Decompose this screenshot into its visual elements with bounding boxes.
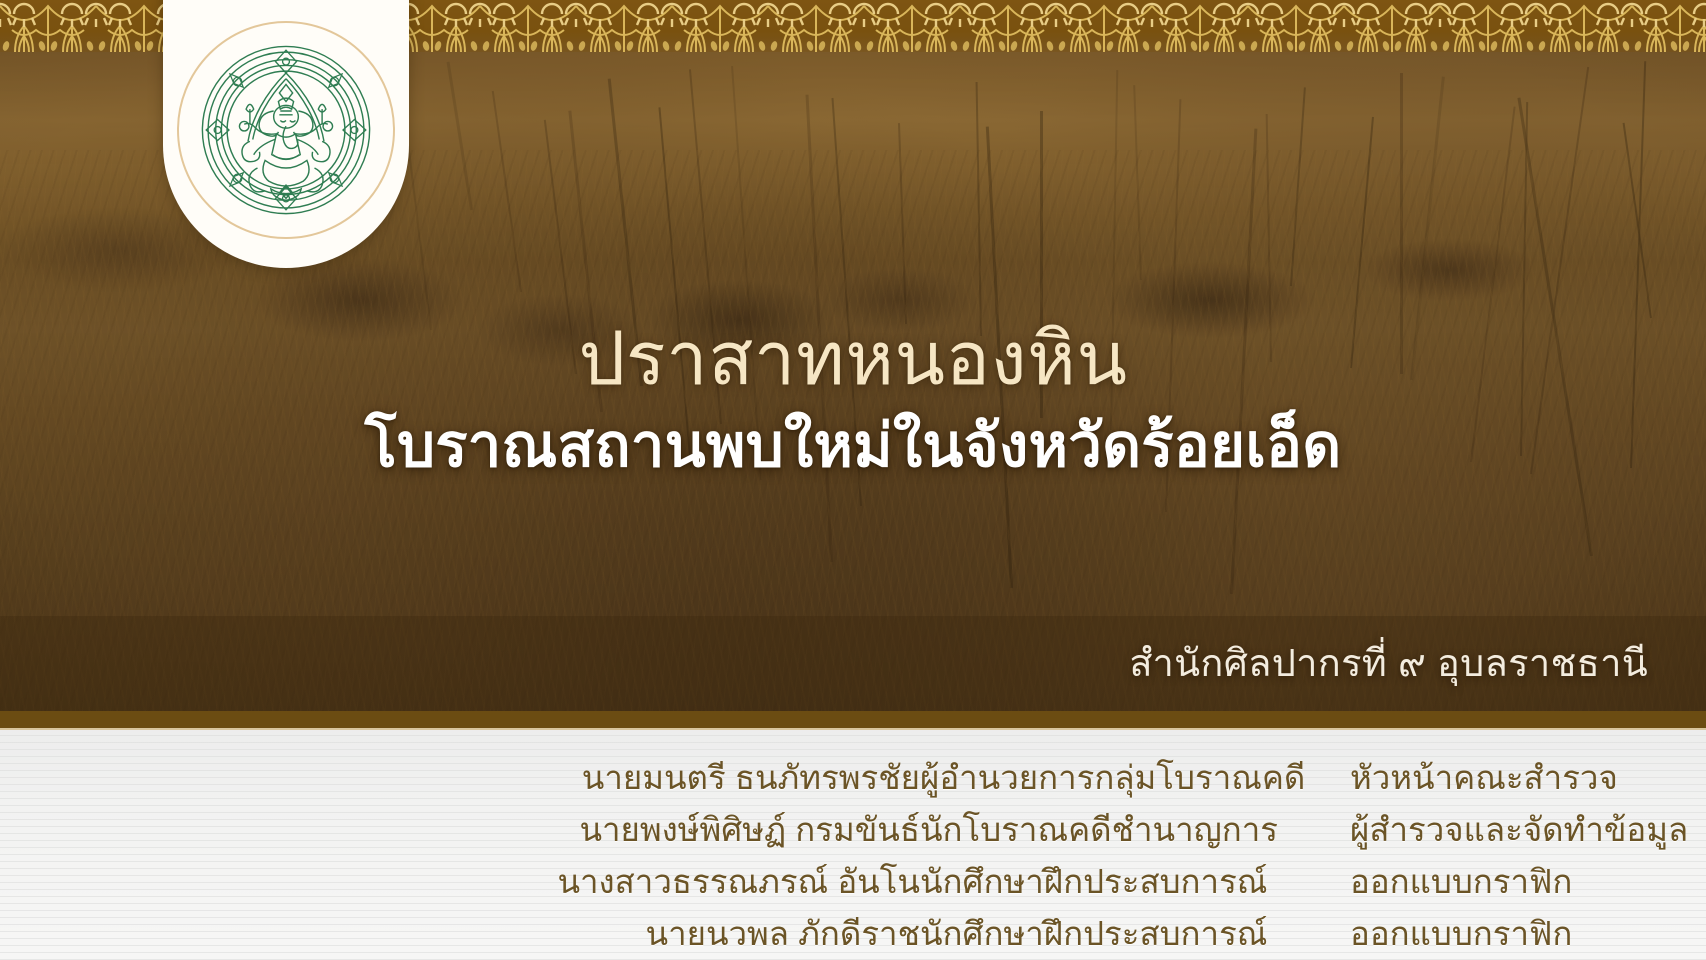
- table-row: นายนวพล ภักดีราชนักศึกษาฝึกประสบการณ์ออก…: [0, 908, 1706, 960]
- emblem-badge: [163, 0, 409, 268]
- credit-duty: หัวหน้าคณะสำรวจ: [1350, 752, 1706, 804]
- title-block: ปราสาทหนองหิน โบราณสถานพบใหม่ในจังหวัดร้…: [0, 318, 1706, 482]
- brown-divider-strip: [0, 711, 1706, 728]
- credit-duty: ออกแบบกราฟิก: [1350, 856, 1706, 908]
- credit-role: นักศึกษาฝึกประสบการณ์: [920, 908, 1350, 960]
- credits-table: นายมนตรี ธนภัทรพรชัยผู้อำนวยการกลุ่มโบรา…: [0, 752, 1706, 959]
- table-row: นายพงษ์พิศิษฏ์ กรมขันธ์นักโบราณคดีชำนาญก…: [0, 804, 1706, 856]
- credit-name: นายพงษ์พิศิษฏ์ กรมขันธ์: [0, 804, 920, 856]
- credit-name: นายมนตรี ธนภัทรพรชัย: [0, 752, 920, 804]
- credit-role: นักศึกษาฝึกประสบการณ์: [920, 856, 1350, 908]
- credit-name: นายนวพล ภักดีราช: [0, 908, 920, 960]
- page-subtitle: โบราณสถานพบใหม่ในจังหวัดร้อยเอ็ด: [0, 411, 1706, 482]
- office-name: สำนักศิลปากรที่ ๙ อุบลราชธานี: [1129, 632, 1648, 693]
- page-title: ปราสาทหนองหิน: [0, 318, 1706, 401]
- table-row: นางสาวธรรณภรณ์ อันโนนักศึกษาฝึกประสบการณ…: [0, 856, 1706, 908]
- credit-name: นางสาวธรรณภรณ์ อันโน: [0, 856, 920, 908]
- table-row: นายมนตรี ธนภัทรพรชัยผู้อำนวยการกลุ่มโบรา…: [0, 752, 1706, 804]
- credit-role: ผู้อำนวยการกลุ่มโบราณคดี: [920, 752, 1350, 804]
- credit-role: นักโบราณคดีชำนาญการ: [920, 804, 1350, 856]
- credits-section: นายมนตรี ธนภัทรพรชัยผู้อำนวยการกลุ่มโบรา…: [0, 730, 1706, 960]
- credit-duty: ผู้สำรวจและจัดทำข้อมูล: [1350, 804, 1706, 856]
- ganesha-seal-icon: [191, 35, 381, 225]
- credit-duty: ออกแบบกราฟิก: [1350, 908, 1706, 960]
- presentation-slide: ปราสาทหนองหิน โบราณสถานพบใหม่ในจังหวัดร้…: [0, 0, 1706, 960]
